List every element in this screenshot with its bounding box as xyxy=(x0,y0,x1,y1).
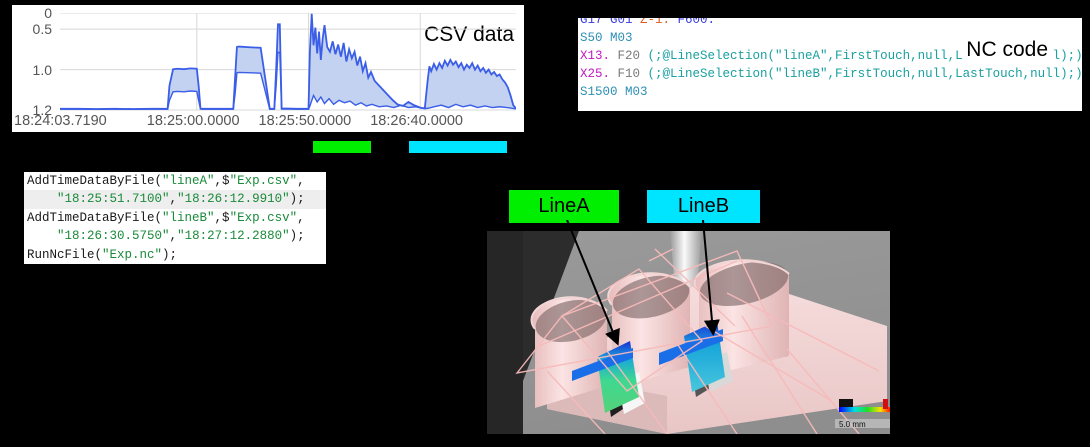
script-token xyxy=(27,229,57,243)
callout-label-lineb: LineB xyxy=(647,190,760,223)
nc-panel-title: NC code xyxy=(962,38,1052,62)
chart-y-tick-label: 0 xyxy=(44,6,52,20)
script-token: "Exp.csv" xyxy=(230,174,298,188)
script-token: ); xyxy=(162,248,177,262)
callout-label-lineb-text: LineB xyxy=(678,195,729,218)
time-range-bar-linea xyxy=(313,141,371,153)
chart-svg xyxy=(60,13,516,112)
nc-code-token: S50 M03 xyxy=(580,31,633,45)
script-line[interactable]: AddTimeDataByFile("lineA",$"Exp.csv", xyxy=(24,172,326,190)
script-token: "lineB" xyxy=(162,211,215,225)
nc-code-panel: G17 G01 Z-1. F600. S50 M03 X13. F20 (;@L… xyxy=(578,18,1082,111)
script-token: AddTimeDataByFile( xyxy=(27,174,162,188)
callout-label-linea: LineA xyxy=(509,190,619,223)
nc-code-token: F600. xyxy=(678,18,716,27)
nc-code-token: X13. xyxy=(580,49,610,63)
script-token: "18:25:51.7100" xyxy=(57,192,170,206)
nc-code-token: G17 G01 xyxy=(580,18,640,27)
chart-band-fill xyxy=(60,14,516,110)
script-token: ); xyxy=(290,229,305,243)
script-token: , xyxy=(297,174,305,188)
3d-simulation-viewport[interactable]: 5.0 mm xyxy=(487,231,890,434)
nc-code-token: F20 xyxy=(610,49,648,63)
script-token: , xyxy=(170,192,178,206)
time-range-bar-lineb xyxy=(409,141,507,153)
nc-code-token: F10 xyxy=(610,67,648,81)
chart-x-tick-label: 18:24:03.7190 xyxy=(14,113,107,129)
nc-code-token: (;@LineSelection("lineB",FirstTouch,null… xyxy=(648,67,1082,81)
script-line[interactable]: "18:26:30.5750","18:27:12.2880"); xyxy=(24,227,326,245)
chart-x-tick-label: 18:25:50.0000 xyxy=(259,113,352,129)
nc-code-line: S1500 M03 xyxy=(578,83,1082,101)
script-token: AddTimeDataByFile( xyxy=(27,211,162,225)
script-token: ,$ xyxy=(215,211,230,225)
nc-code-token: X25. xyxy=(580,67,610,81)
legend-color-scale xyxy=(839,407,890,412)
script-token: "18:26:12.9910" xyxy=(177,192,290,206)
script-line[interactable]: AddTimeDataByFile("lineB",$"Exp.csv", xyxy=(24,209,326,227)
script-token: , xyxy=(170,229,178,243)
nc-code-token: Z-1. xyxy=(640,18,678,27)
script-token: RunNcFile( xyxy=(27,248,102,262)
legend-max-box xyxy=(883,399,888,409)
script-token: "18:26:30.5750" xyxy=(57,229,170,243)
chart-y-tick-label: 0.5 xyxy=(33,22,52,36)
scale-bar-label: 5.0 mm xyxy=(839,420,866,429)
nc-code-token: S1500 M03 xyxy=(580,85,648,99)
chart-y-tick-label: 1.0 xyxy=(33,63,52,77)
script-line[interactable]: "18:25:51.7100","18:26:12.9910"); xyxy=(24,190,326,208)
script-token: ); xyxy=(290,192,305,206)
script-panel: AddTimeDataByFile("lineA",$"Exp.csv", "1… xyxy=(24,172,326,264)
nc-code-line: X25. F10 (;@LineSelection("lineB",FirstT… xyxy=(578,65,1082,83)
csv-data-panel: CSV data 1.21.00.50 18:24:03.719018:25:0… xyxy=(12,5,524,132)
script-line[interactable]: RunNcFile("Exp.nc"); xyxy=(24,246,326,264)
3d-scene: 5.0 mm xyxy=(487,231,890,434)
chart-x-tick-label: 18:25:00.0000 xyxy=(147,113,240,129)
callout-label-linea-text: LineA xyxy=(538,195,589,218)
script-token: "Exp.nc" xyxy=(102,248,162,262)
script-token: "18:27:12.2880" xyxy=(177,229,290,243)
script-token: "Exp.csv" xyxy=(230,211,298,225)
legend-min-box xyxy=(839,399,853,407)
script-token: ,$ xyxy=(215,174,230,188)
script-token: "lineA" xyxy=(162,174,215,188)
script-token xyxy=(27,192,57,206)
chart-x-axis: 18:24:03.719018:25:00.000018:25:50.00001… xyxy=(12,113,524,131)
chart-plot-area xyxy=(60,13,516,110)
script-token: , xyxy=(297,211,305,225)
left-dark-band xyxy=(487,231,523,434)
chart-x-tick-label: 18:26:40.0000 xyxy=(370,113,463,129)
chart-y-axis: 1.21.00.50 xyxy=(12,5,56,110)
nc-code-line: G17 G01 Z-1. F600. xyxy=(578,18,1082,29)
